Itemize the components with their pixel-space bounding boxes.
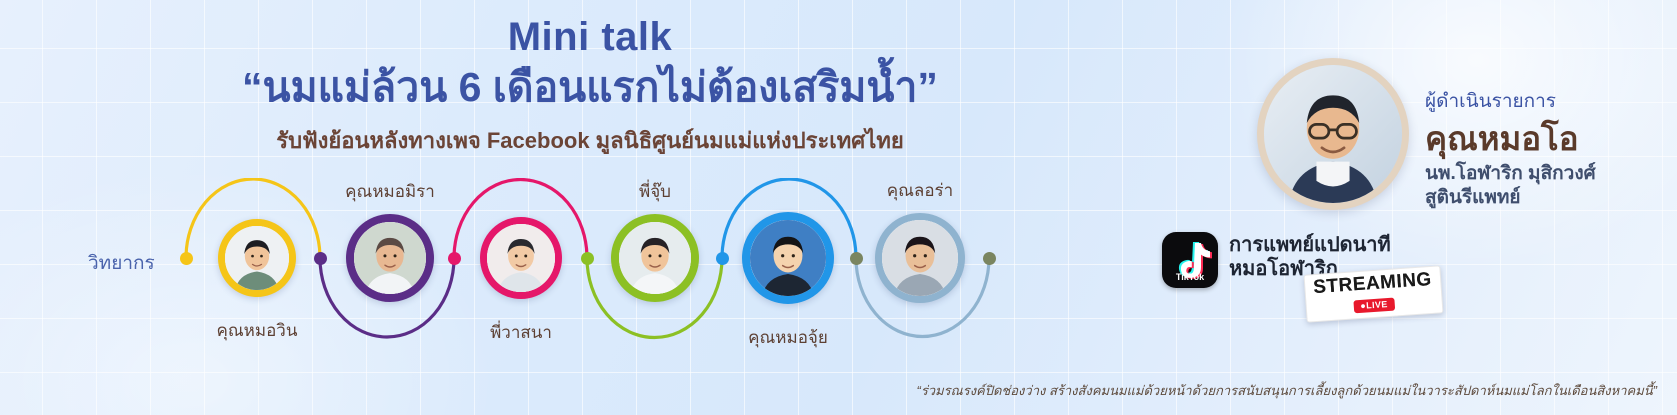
timeline-connector-dot [716,252,729,265]
page-title-line2: “นมแม่ล้วน 6 เดือนแรกไม่ต้องเสริมน้ำ” [0,63,1180,111]
speaker-avatar [742,212,834,304]
speaker-name-label: พี่วาสนา [490,319,552,346]
footer-tagline: “ร่วมรณรงค์ปิดช่องว่าง สร้างสังคมนมแม่ด้… [916,380,1657,401]
speaker-timeline: วิทยากร คุณหมอวิน คุณหมอมิรา [0,178,1090,348]
speaker-avatar-image [882,220,958,296]
speaker-avatar-image [619,222,691,294]
speaker-name-label: คุณหมอมิรา [345,178,435,205]
speaker-avatar-image [750,220,826,296]
tiktok-icon[interactable]: TikTok [1162,232,1224,294]
speaker-name-label: คุณหมอจุ้ย [748,324,828,351]
speaker-avatar-image [487,224,555,292]
page-subtitle: รับฟังย้อนหลังทางเพจ Facebook มูลนิธิศูน… [0,128,1180,154]
speaker-avatar [218,219,296,297]
speaker-name-label: คุณลอร่า [887,177,953,204]
timeline-connector-dot [850,252,863,265]
tiktok-wordmark: TikTok [1162,272,1218,282]
timeline-connector-dot [314,252,327,265]
timeline-connector-dot [180,252,193,265]
host-specialty: สูตินรีแพทย์ [1425,182,1521,212]
timeline-connector-dot [448,252,461,265]
speaker-name-label: คุณหมอวิน [217,317,298,344]
speaker-avatar [480,217,562,299]
speaker-avatar-image [354,222,426,294]
headline-block: Mini talk “นมแม่ล้วน 6 เดือนแรกไม่ต้องเส… [0,16,1180,154]
speaker-avatar [346,214,434,302]
speaker-avatar [875,213,965,303]
page-title-line1: Mini talk [0,16,1180,59]
live-badge: ●LIVE [1353,298,1395,314]
host-panel: ผู้ดำเนินรายการ คุณหมอโอ นพ.โอฬาริก มุสิ… [1157,0,1677,415]
speaker-name-label: พี่จุ๊บ [639,178,671,205]
timeline-connector-dot [581,252,594,265]
speaker-avatar-image [225,226,289,290]
streaming-badge: STREAMING ●LIVE [1303,265,1443,322]
speaker-avatar [611,214,699,302]
streaming-badge-text: STREAMING [1313,269,1433,299]
promo-banner: Mini talk “นมแม่ล้วน 6 เดือนแรกไม่ต้องเส… [0,0,1677,415]
host-avatar-image [1264,65,1402,203]
host-avatar [1257,58,1409,210]
timeline-connector-dot [983,252,996,265]
